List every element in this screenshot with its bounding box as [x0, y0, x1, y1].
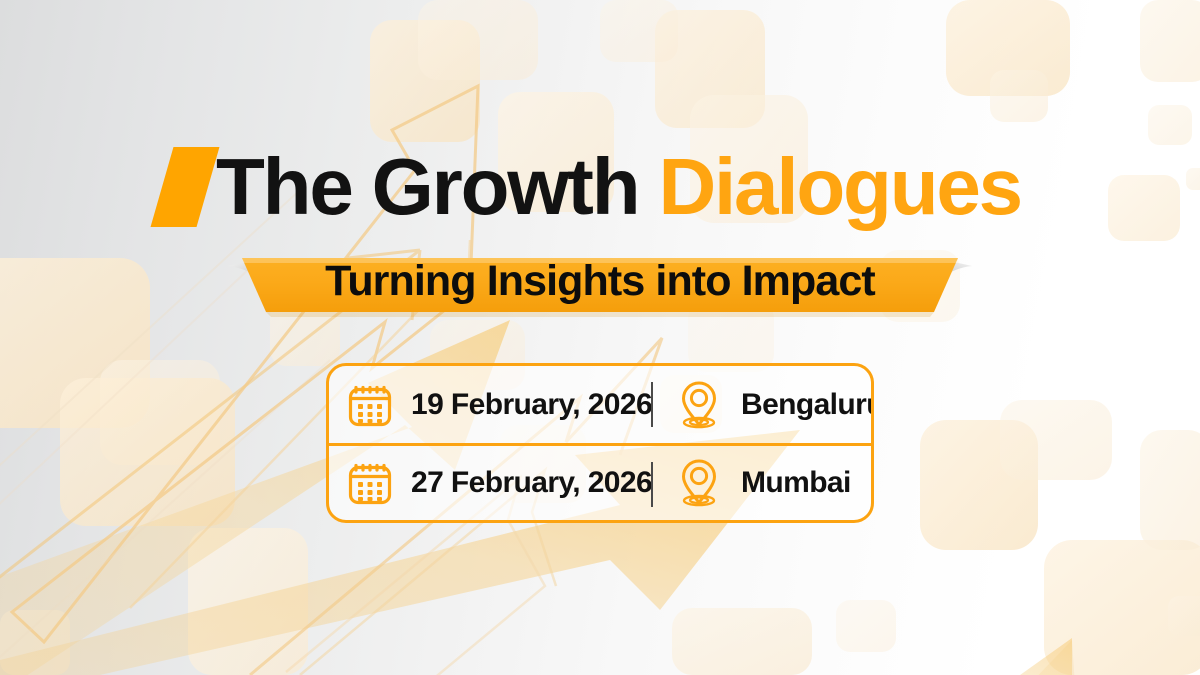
headline-accent: Dialogues: [658, 142, 1021, 231]
event-date-cell: 27 February, 2026: [329, 458, 651, 508]
event-location-cell: Bengaluru: [651, 379, 874, 431]
row-divider: [651, 462, 653, 507]
event-date-text: 19 February, 2026: [411, 388, 652, 422]
calendar-icon: [345, 380, 395, 430]
slash-accent-mark: [151, 147, 220, 227]
tagline-ribbon: Turning Insights into Impact: [228, 248, 972, 322]
tagline-text: Turning Insights into Impact: [228, 248, 972, 322]
event-city-text: Bengaluru: [741, 388, 874, 422]
location-pin-icon: [673, 457, 725, 509]
background-decoration: [0, 0, 1200, 675]
event-row: 27 February, 2026 Mumbai: [329, 443, 871, 520]
event-date-text: 27 February, 2026: [411, 466, 652, 500]
growth-dialogues-banner: The Growth Dialogues: [0, 0, 1200, 675]
event-city-text: Mumbai: [741, 466, 851, 500]
location-pin-icon: [673, 379, 725, 431]
calendar-icon: [345, 458, 395, 508]
event-details-box: 19 February, 2026 Bengaluru: [326, 363, 874, 523]
headline-primary: The Growth: [216, 142, 638, 231]
event-location-cell: Mumbai: [651, 457, 871, 509]
event-date-cell: 19 February, 2026: [329, 380, 651, 430]
headline: The Growth Dialogues: [162, 140, 1021, 234]
headline-text: The Growth Dialogues: [216, 147, 1021, 227]
row-divider: [651, 382, 653, 427]
event-row: 19 February, 2026 Bengaluru: [329, 366, 871, 443]
